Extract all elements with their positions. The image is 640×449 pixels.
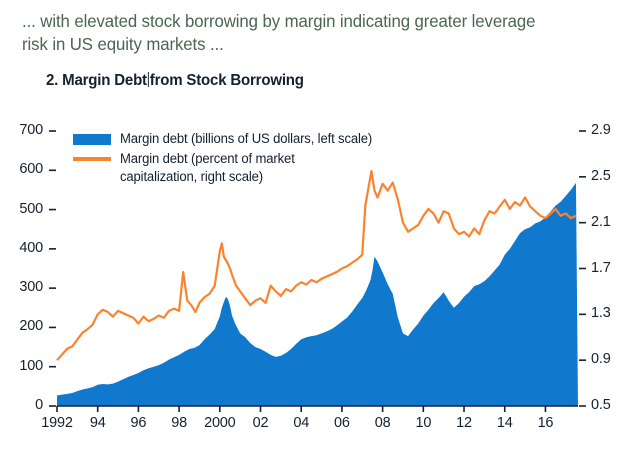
x-tick-label: 2000 — [204, 415, 235, 431]
chart-page: ... with elevated stock borrowing by mar… — [0, 0, 640, 449]
margin-debt-area-series — [57, 183, 578, 406]
y-left-tick-label: 400 — [7, 240, 43, 256]
y-right-tick-label: 2.1 — [591, 214, 631, 230]
y-left-tick-label: 600 — [7, 161, 43, 177]
area-fill — [57, 183, 578, 406]
x-tick-label: 98 — [171, 415, 187, 431]
x-tick-label: 16 — [538, 415, 554, 431]
line-swatch-icon — [73, 157, 111, 161]
x-tick-label: 04 — [293, 415, 309, 431]
y-left-tick-label: 100 — [7, 358, 43, 374]
y-right-tick-label: 2.9 — [591, 122, 631, 138]
chart-plot — [0, 0, 640, 449]
y-right-tick-label: 0.9 — [591, 351, 631, 367]
x-tick-label: 02 — [253, 415, 269, 431]
y-right-tick-label: 2.5 — [591, 168, 631, 184]
y-left-tick-label: 300 — [7, 279, 43, 295]
legend-item-area: Margin debt (billions of US dollars, lef… — [73, 130, 380, 148]
x-tick-label: 14 — [497, 415, 513, 431]
y-right-tick-label: 1.3 — [591, 305, 631, 321]
chart-legend: Margin debt (billions of US dollars, lef… — [73, 130, 380, 188]
legend-item-line: Margin debt (percent of market capitaliz… — [73, 150, 380, 186]
y-right-tick-label: 0.5 — [591, 397, 631, 413]
area-swatch-icon — [73, 134, 111, 145]
x-tick-label: 12 — [456, 415, 472, 431]
x-tick-label: 06 — [334, 415, 350, 431]
x-tick-label: 10 — [415, 415, 431, 431]
y-left-tick-label: 200 — [7, 318, 43, 334]
x-tick-label: 96 — [131, 415, 147, 431]
x-tick-label: 08 — [375, 415, 391, 431]
y-left-tick-label: 700 — [7, 122, 43, 138]
legend-label-line: Margin debt (percent of market capitaliz… — [120, 150, 295, 186]
x-tick-label: 94 — [90, 415, 106, 431]
x-tick-label: 1992 — [41, 415, 72, 431]
y-right-tick-label: 1.7 — [591, 260, 631, 276]
y-left-tick-label: 0 — [7, 397, 43, 413]
y-left-tick-label: 500 — [7, 201, 43, 217]
legend-label-area: Margin debt (billions of US dollars, lef… — [120, 130, 372, 148]
